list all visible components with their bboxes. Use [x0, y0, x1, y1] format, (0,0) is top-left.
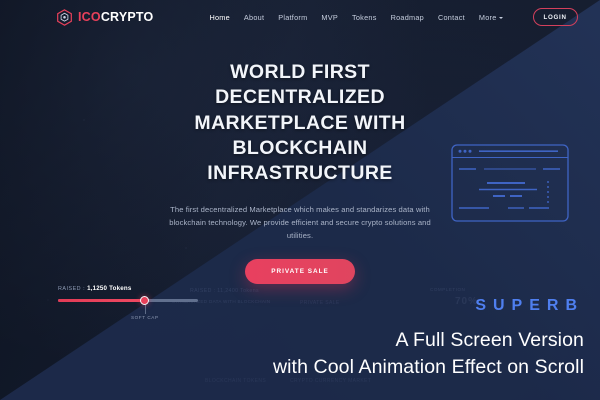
raised-progress-block: RAISED : 1,1250 Tokens SOFT CAP — [58, 285, 198, 302]
hexagon-crypto-icon — [56, 9, 73, 26]
hero-cta-wrapper: PRIVATE SALE — [0, 259, 600, 284]
raised-label-text: RAISED : — [58, 286, 85, 292]
nav-label-home: Home — [209, 13, 229, 22]
nav-label-tokens: Tokens — [352, 13, 377, 22]
logo-text-ico: ICO — [78, 10, 101, 24]
promo-kicker: SUPERB — [273, 298, 584, 314]
login-button[interactable]: LOGIN — [533, 8, 578, 26]
hero-title: WORLD FIRST DECENTRALIZED MARKETPLACE WI… — [150, 60, 450, 187]
promo-line-1: A Full Screen Version — [273, 327, 584, 355]
raised-slider[interactable]: SOFT CAP — [58, 299, 198, 302]
promo-caption: SUPERB A Full Screen Version with Cool A… — [273, 298, 584, 382]
nav-item-tokens[interactable]: Tokens — [352, 13, 377, 22]
soft-cap-label: SOFT CAP — [131, 315, 159, 320]
chevron-down-icon — [499, 17, 503, 19]
private-sale-button[interactable]: PRIVATE SALE — [245, 259, 355, 284]
logo[interactable]: ICOCRYPTO — [56, 9, 153, 26]
raised-label: RAISED : 1,1250 Tokens — [58, 285, 198, 292]
raised-value: 1,1250 Tokens — [87, 285, 131, 292]
nav-label-mvp: MVP — [321, 13, 338, 22]
nav-item-about[interactable]: About — [244, 13, 264, 22]
nav-item-contact[interactable]: Contact — [438, 13, 465, 22]
nav-item-mvp[interactable]: MVP — [321, 13, 338, 22]
logo-text-crypto: CRYPTO — [101, 10, 154, 24]
ghost-text-completion: COMPLETION — [430, 287, 465, 292]
ghost-text-raised: RAISED : 11,2400 Tokens — [190, 288, 259, 294]
nav-item-platform[interactable]: Platform — [278, 13, 307, 22]
nav-item-roadmap[interactable]: Roadmap — [391, 13, 424, 22]
browser-wireframe-illustration — [451, 144, 569, 222]
hero-screenshot: RAISED : 11,2400 Tokens STANDARIZED DATA… — [0, 0, 600, 400]
nav-label-roadmap: Roadmap — [391, 13, 424, 22]
nav-label-platform: Platform — [278, 13, 307, 22]
main-navigation: Home About Platform MVP Tokens Roadmap C… — [209, 8, 577, 26]
promo-line-2: with Cool Animation Effect on Scroll — [273, 354, 584, 382]
nav-label-about: About — [244, 13, 264, 22]
slider-fill — [58, 299, 145, 302]
ghost-text-tokens: BLOCKCHAIN TOKENS — [205, 378, 266, 384]
nav-label-more: More — [479, 13, 497, 22]
nav-item-home[interactable]: Home — [209, 13, 229, 22]
site-header: ICOCRYPTO Home About Platform MVP Tokens… — [0, 0, 600, 34]
nav-label-contact: Contact — [438, 13, 465, 22]
nav-item-more[interactable]: More — [479, 13, 503, 22]
hero-subtitle: The first decentralized Marketplace whic… — [166, 203, 434, 243]
